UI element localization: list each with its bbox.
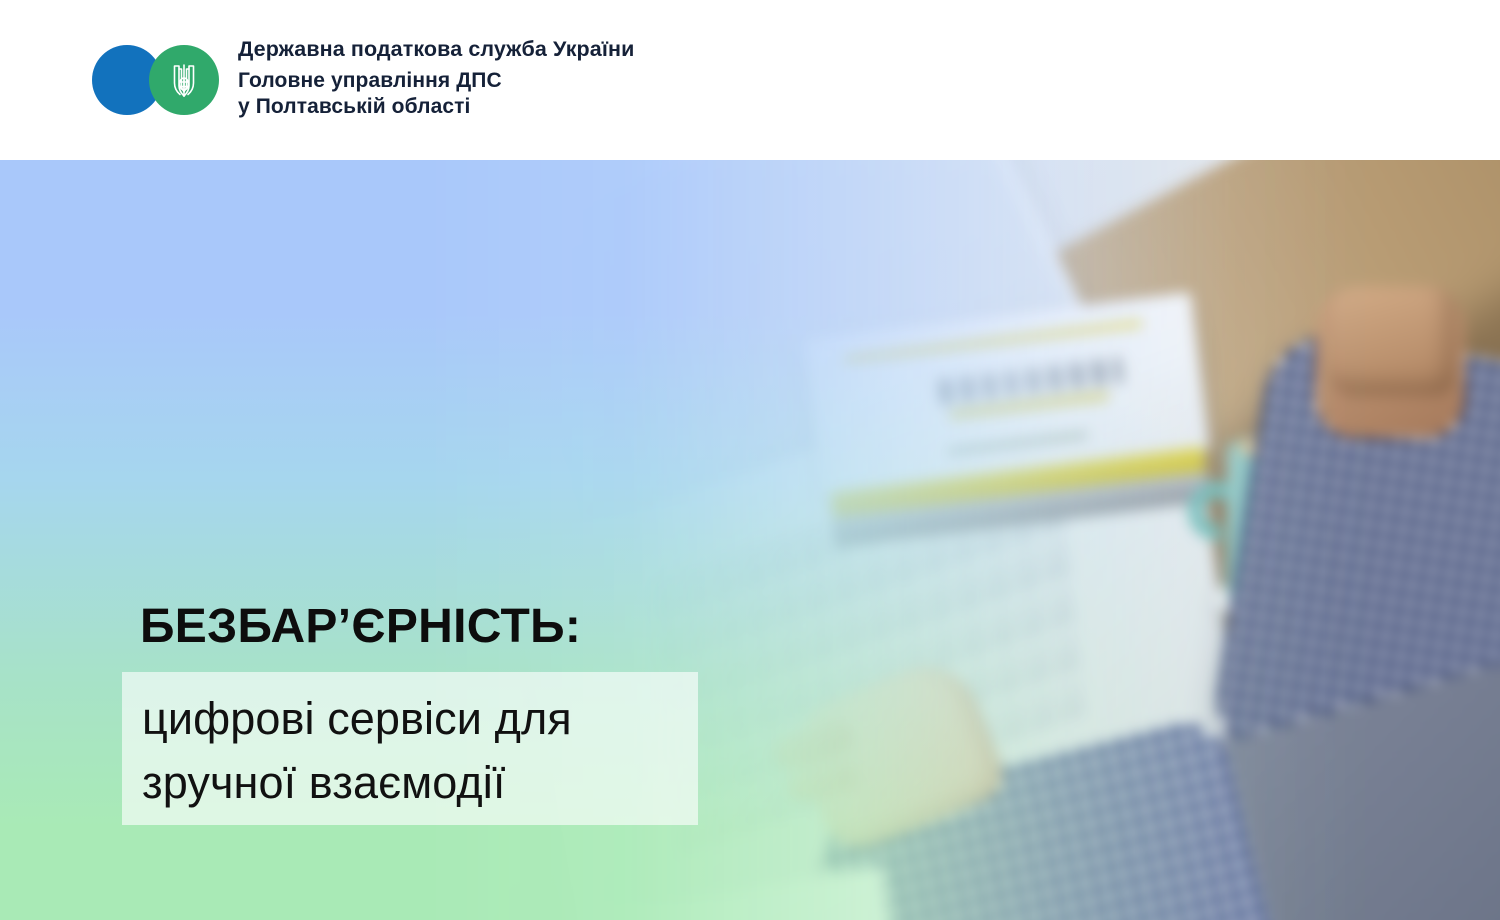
org-title-line-3: у Полтавській області — [238, 94, 634, 121]
dps-logo[interactable] — [92, 45, 219, 115]
org-title-line-2: Головне управління ДПС — [238, 68, 634, 95]
banner-page: Державна податкова служба України Головн… — [0, 0, 1500, 920]
hero-subtitle-line-1: цифрові сервіси для — [142, 687, 702, 751]
hero-banner: БЕЗБАР’ЄРНІСТЬ: цифрові сервіси для зруч… — [0, 160, 1500, 920]
hero-subtitle: цифрові сервіси для зручної взаємодії — [142, 687, 702, 815]
hero-text-block: БЕЗБАР’ЄРНІСТЬ: цифрові сервіси для зруч… — [0, 160, 1500, 920]
green-circle-icon — [149, 45, 219, 115]
ukraine-trident-icon — [168, 60, 200, 100]
organization-name: Державна податкова служба України Головн… — [238, 39, 634, 121]
hero-title: БЕЗБАР’ЄРНІСТЬ: — [140, 603, 581, 651]
org-title-line-1: Державна податкова служба України — [238, 39, 634, 61]
hero-subtitle-line-2: зручної взаємодії — [142, 751, 702, 815]
site-header: Державна податкова служба України Головн… — [0, 0, 1500, 160]
